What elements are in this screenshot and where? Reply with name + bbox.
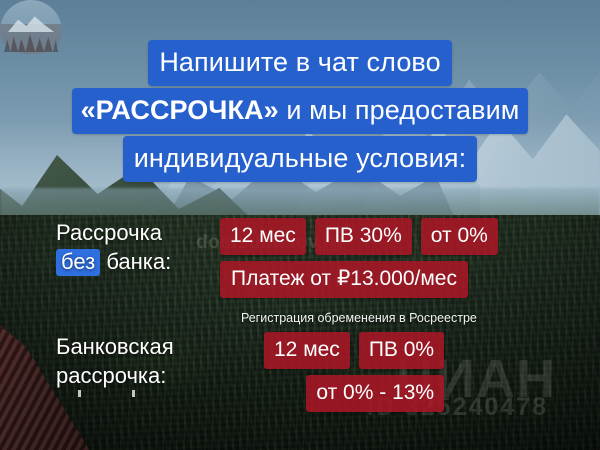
badge-line: от 0% - 13% <box>264 375 444 412</box>
offer-label-highlight: без <box>56 249 100 276</box>
headline-line-2-rest: и мы предоставим <box>279 95 520 125</box>
promo-banner: domsuhanov.ru ЦИАН ID 325240478 Напишите… <box>0 0 600 450</box>
offer-badges-no-bank: 12 мес ПВ 30% от 0% Платеж от ₽13.000/ме… <box>220 218 498 325</box>
headline-line-2-text: «РАССРОЧКА» и мы предоставим <box>72 88 529 134</box>
headline-line-3: индивидуальные условия: <box>0 136 600 182</box>
offer-row-bank: Банковская рассрочка: 12 мес ПВ 0% от 0%… <box>56 332 556 412</box>
badge-line: 12 мес ПВ 30% от 0% <box>220 218 498 255</box>
offer-row-no-bank: Рассрочка без банка: 12 мес ПВ 30% от 0%… <box>56 218 556 325</box>
badge-term: 12 мес <box>220 218 306 255</box>
offer-label-bank: Банковская рассрочка: <box>56 332 246 390</box>
badge-downpayment: ПВ 0% <box>359 332 444 369</box>
badge-monthly-payment: Платеж от ₽13.000/мес <box>220 261 468 298</box>
badge-rate-range: от 0% - 13% <box>306 375 444 412</box>
badge-line: Платеж от ₽13.000/мес <box>220 261 498 298</box>
offer-label-no-bank-line2: банка: <box>100 249 171 274</box>
headline-line-2: «РАССРОЧКА» и мы предоставим <box>0 88 600 134</box>
offer-badges-bank: 12 мес ПВ 0% от 0% - 13% <box>264 332 444 412</box>
headline: Напишите в чат слово «РАССРОЧКА» и мы пр… <box>0 40 600 184</box>
offer-label-no-bank-line1: Рассрочка <box>56 220 162 245</box>
offer-fineprint: Регистрация обременения в Росреестре <box>220 311 498 325</box>
headline-line-1: Напишите в чат слово <box>0 40 600 86</box>
offer-label-no-bank: Рассрочка без банка: <box>56 218 196 276</box>
headline-line-3-text: индивидуальные условия: <box>123 136 478 182</box>
logo-peak-shape <box>8 12 54 32</box>
offer-label-bank-line2: рассрочка: <box>56 363 166 388</box>
headline-keyword: «РАССРОЧКА» <box>81 95 279 125</box>
badge-term: 12 мес <box>264 332 350 369</box>
badge-downpayment: ПВ 30% <box>315 218 412 255</box>
headline-line-1-text: Напишите в чат слово <box>148 40 451 86</box>
badge-rate: от 0% <box>421 218 498 255</box>
badge-line: 12 мес ПВ 0% <box>264 332 444 369</box>
offer-label-bank-line1: Банковская <box>56 334 174 359</box>
